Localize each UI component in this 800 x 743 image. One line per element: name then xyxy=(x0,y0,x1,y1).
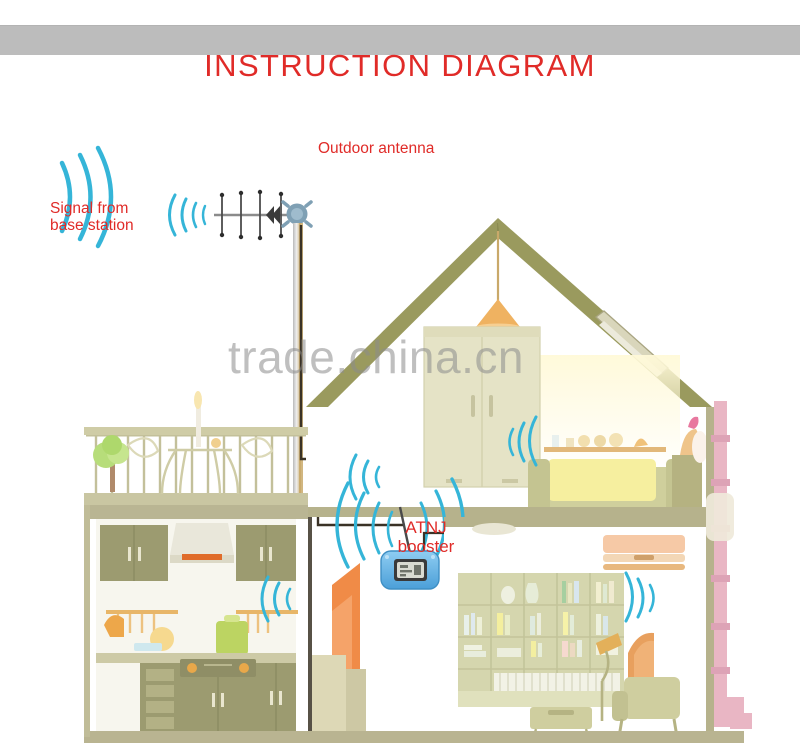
kitchen-ceiling xyxy=(84,505,308,519)
house-illustration xyxy=(0,55,800,743)
balcony-floor xyxy=(84,493,308,505)
balcony-table-icon xyxy=(162,450,238,494)
left-exterior-wall xyxy=(84,505,90,737)
label-atnj-booster: ATNJ booster xyxy=(378,518,474,556)
top-bar-divider xyxy=(0,25,800,26)
foundation-slab xyxy=(84,731,744,743)
air-conditioner-icon xyxy=(603,535,685,570)
kitchen-appliance-icon xyxy=(216,615,248,655)
study-ceiling-light-icon xyxy=(472,523,516,535)
label-signal-from-base-station: Signal from base station xyxy=(50,200,134,235)
antenna-reception-signal-icon xyxy=(170,195,206,235)
attic-floor-slab xyxy=(306,507,712,517)
range-hood-icon xyxy=(170,523,234,563)
kitchen-sink-icon xyxy=(134,643,162,651)
house-cutaway-svg xyxy=(0,55,800,743)
kitchen-stove-icon xyxy=(180,659,256,677)
watermark: trade.china.cn xyxy=(228,330,588,384)
bookshelf-icon xyxy=(458,573,624,707)
signal-booster-device[interactable] xyxy=(381,551,439,589)
balcony-plant-icon xyxy=(93,435,129,492)
hall-wall-left xyxy=(308,517,312,743)
attic-sofa-icon xyxy=(528,459,688,513)
diagram-canvas: INSTRUCTION DIAGRAM xyxy=(0,0,800,743)
label-outdoor-antenna: Outdoor antenna xyxy=(318,140,434,157)
